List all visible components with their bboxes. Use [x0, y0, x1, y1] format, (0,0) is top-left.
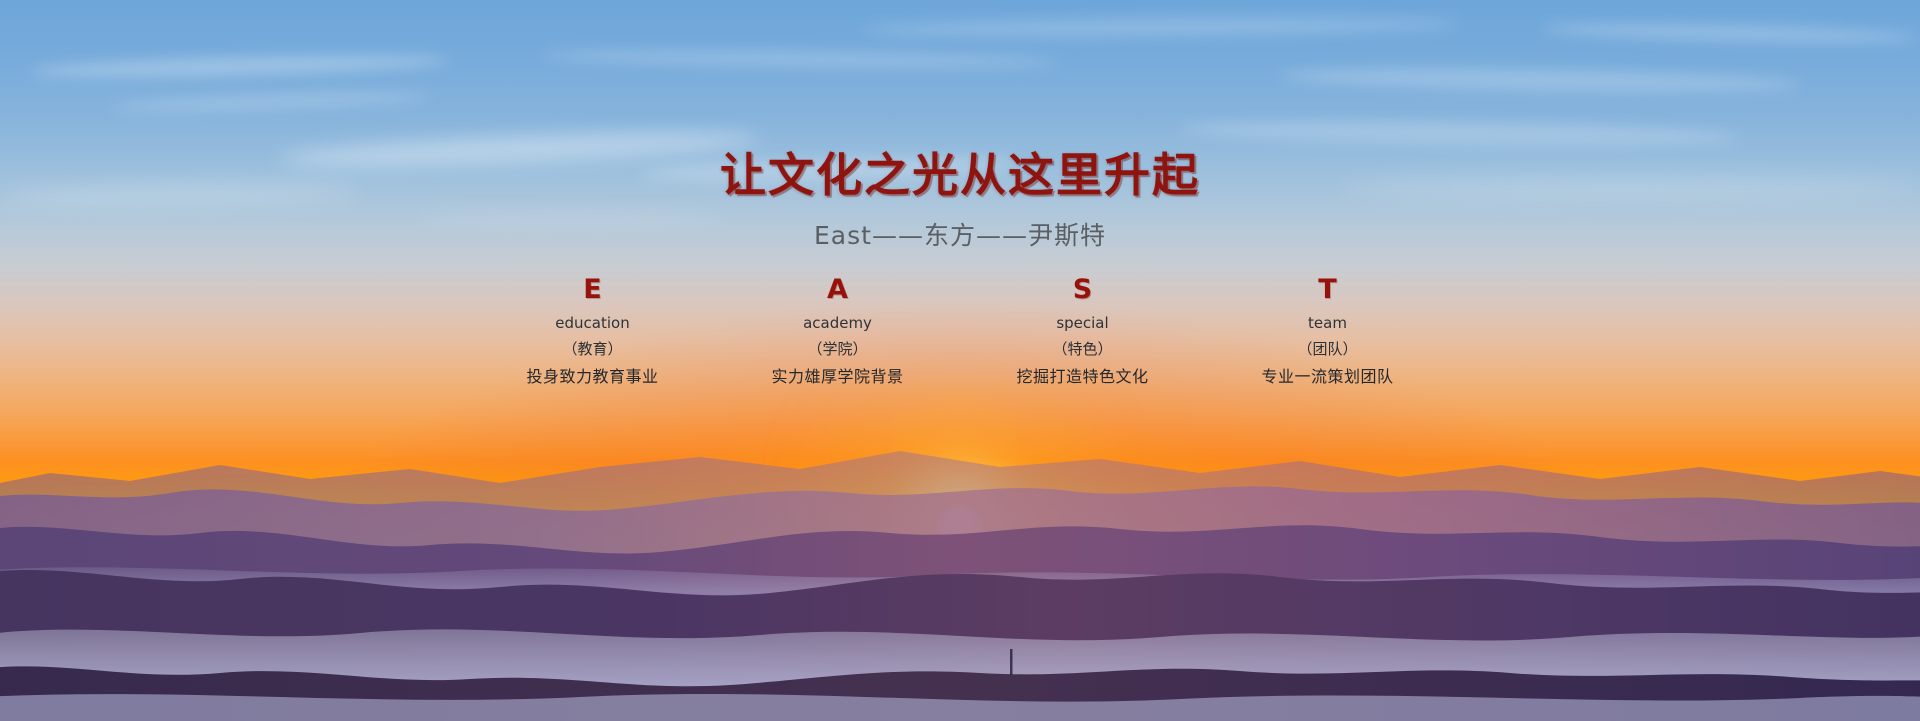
feature-chinese: （团队） — [1205, 332, 1450, 358]
feature-english: academy — [715, 305, 960, 332]
feature-letter: E — [470, 274, 715, 305]
feature-item-academy: A academy （学院） 实力雄厚学院背景 — [715, 274, 960, 387]
feature-item-team: T team （团队） 专业一流策划团队 — [1205, 274, 1450, 387]
feature-english: special — [960, 305, 1205, 332]
feature-chinese: （学院） — [715, 332, 960, 358]
feature-description: 投身致力教育事业 — [470, 358, 715, 387]
feature-chinese: （特色） — [960, 332, 1205, 358]
feature-english: team — [1205, 305, 1450, 332]
text-overlay: 让文化之光从这里升起 East——东方——尹斯特 E education （教育… — [0, 0, 1920, 387]
page-subtitle: East——东方——尹斯特 — [0, 202, 1920, 252]
feature-letter: S — [960, 274, 1205, 305]
feature-item-special: S special （特色） 挖掘打造特色文化 — [960, 274, 1205, 387]
sun-disc — [937, 505, 983, 551]
feature-chinese: （教育） — [470, 332, 715, 358]
feature-english: education — [470, 305, 715, 332]
feature-list: E education （教育） 投身致力教育事业 A academy （学院）… — [470, 252, 1450, 387]
feature-description: 实力雄厚学院背景 — [715, 358, 960, 387]
feature-description: 挖掘打造特色文化 — [960, 358, 1205, 387]
page-title: 让文化之光从这里升起 — [0, 0, 1920, 202]
hero-banner: 让文化之光从这里升起 East——东方——尹斯特 E education （教育… — [0, 0, 1920, 721]
feature-item-education: E education （教育） 投身致力教育事业 — [470, 274, 715, 387]
feature-letter: T — [1205, 274, 1450, 305]
feature-description: 专业一流策划团队 — [1205, 358, 1450, 387]
feature-letter: A — [715, 274, 960, 305]
